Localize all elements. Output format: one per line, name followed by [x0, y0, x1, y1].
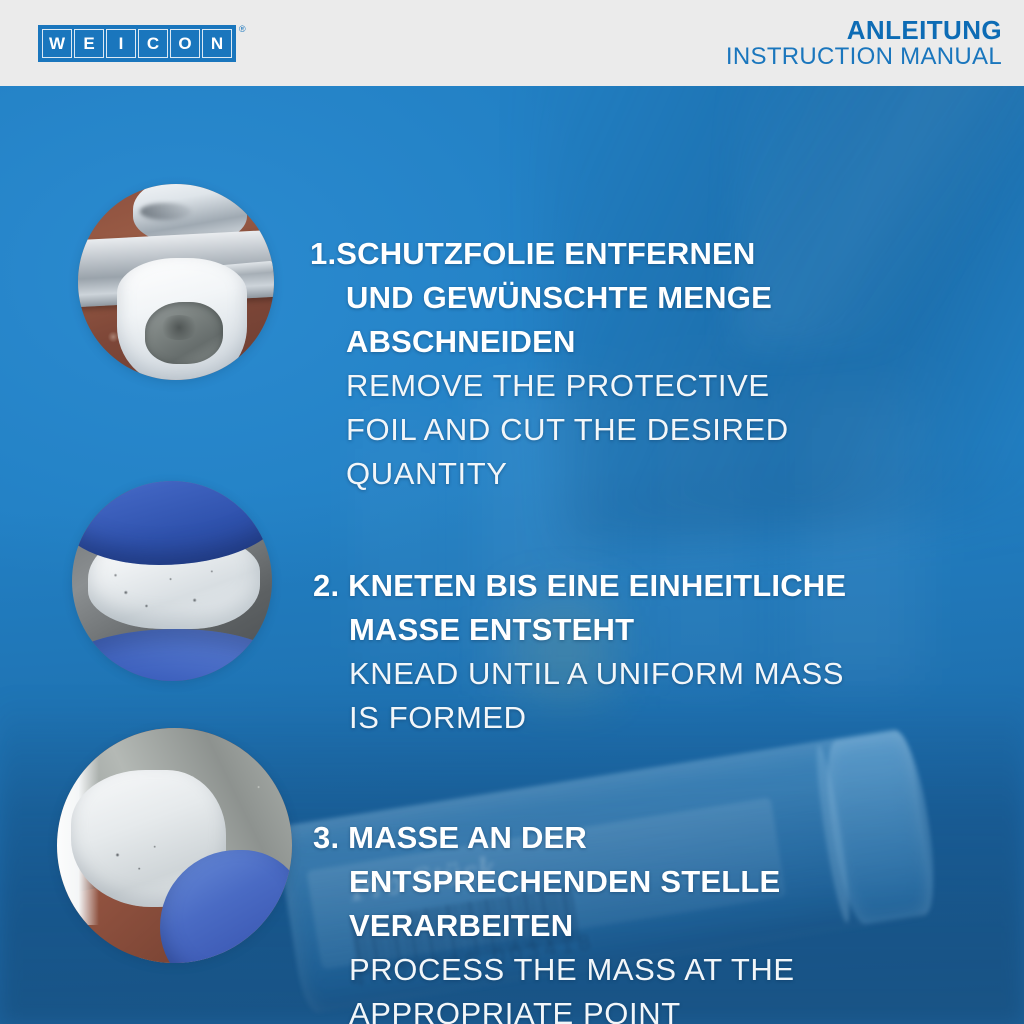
logo-letter-c: C: [138, 29, 168, 58]
step-1-line-de-1: 1.SCHUTZFOLIE ENTFERNEN: [310, 232, 789, 276]
step-2-text: 2. KNETEN BIS EINE EINHEITLICHE MASSE EN…: [313, 564, 846, 740]
logo-letter-o: O: [170, 29, 200, 58]
step-1-line-en-1: REMOVE THE PROTECTIVE: [310, 364, 789, 408]
step-3-line-de-2: ENTSPRECHENDEN STELLE: [313, 860, 795, 904]
step-3-text: 3. MASSE AN DER ENTSPRECHENDEN STELLE VE…: [313, 816, 795, 1024]
logo-letter-boxes: W E I C O N: [38, 25, 236, 62]
step-3-line-en-1: PROCESS THE MASS AT THE: [313, 948, 795, 992]
logo-letter-e: E: [74, 29, 104, 58]
logo-letter-w: W: [42, 29, 72, 58]
step-2-line-de-2: MASSE ENTSTEHT: [313, 608, 846, 652]
photo-content: [57, 728, 292, 963]
logo-letter-n: N: [202, 29, 232, 58]
page-header: W E I C O N ® ANLEITUNG INSTRUCTION MANU…: [0, 0, 1024, 86]
step-1-line-en-3: QUANTITY: [310, 452, 789, 496]
header-title-en: INSTRUCTION MANUAL: [726, 45, 1002, 69]
step-2-line-en-1: KNEAD UNTIL A UNIFORM MASS: [313, 652, 846, 696]
step-1-line-en-2: FOIL AND CUT THE DESIRED: [310, 408, 789, 452]
photo-content: [78, 184, 274, 380]
instruction-manual-page: W E I C O N ® ANLEITUNG INSTRUCTION MANU…: [0, 0, 1024, 1024]
step-2-photo-kneading-putty: [72, 481, 272, 681]
step-2-line-en-2: IS FORMED: [313, 696, 846, 740]
photo-content: [72, 481, 272, 681]
step-1-line-de-3: ABSCHNEIDEN: [310, 320, 789, 364]
header-title-block: ANLEITUNG INSTRUCTION MANUAL: [726, 17, 1008, 69]
step-3-photo-applying-putty: [57, 728, 292, 963]
registered-trademark-icon: ®: [239, 25, 246, 34]
photo-putty-core: [145, 302, 223, 365]
header-title-de: ANLEITUNG: [726, 17, 1002, 44]
step-1-text: 1.SCHUTZFOLIE ENTFERNEN UND GEWÜNSCHTE M…: [310, 232, 789, 496]
step-3-line-en-2: APPROPRIATE POINT: [313, 992, 795, 1024]
steps-list: 1.SCHUTZFOLIE ENTFERNEN UND GEWÜNSCHTE M…: [0, 86, 1024, 1024]
step-3-line-de-1: 3. MASSE AN DER: [313, 816, 795, 860]
step-1-photo-cutting-putty-stick: [78, 184, 274, 380]
step-2-line-de-1: 2. KNETEN BIS EINE EINHEITLICHE: [313, 564, 846, 608]
step-1-line-de-2: UND GEWÜNSCHTE MENGE: [310, 276, 789, 320]
step-3-line-de-3: VERARBEITEN: [313, 904, 795, 948]
instruction-body: Pro Stück 4 024596 003418: [0, 86, 1024, 1024]
weicon-logo: W E I C O N ®: [38, 25, 246, 62]
logo-letter-i: I: [106, 29, 136, 58]
